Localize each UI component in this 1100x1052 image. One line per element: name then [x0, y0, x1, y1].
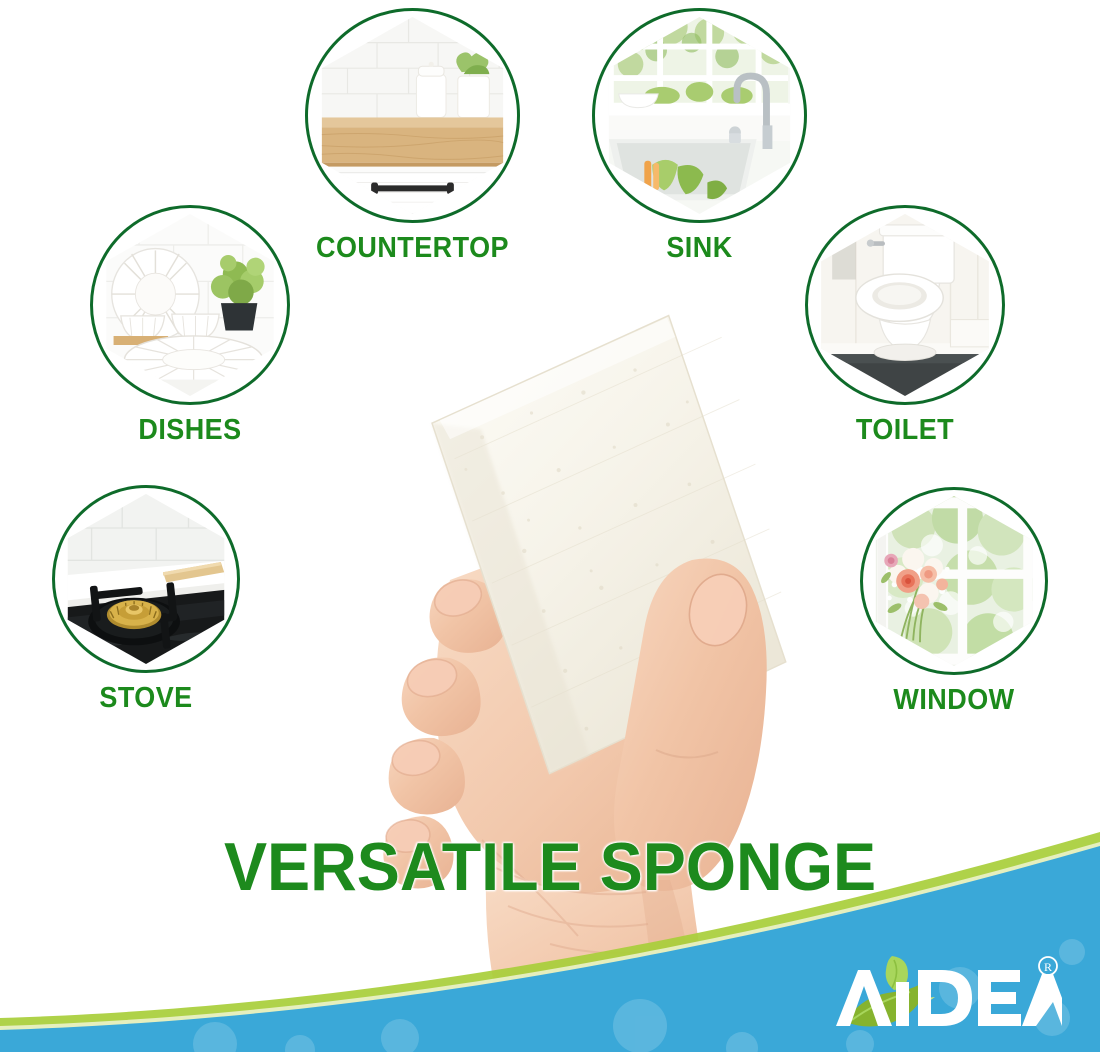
trademark-icon: R: [1039, 957, 1057, 975]
badge-label-toilet: TOILET: [812, 414, 998, 447]
badge-label-countertop: COUNTERTOP: [313, 232, 513, 265]
product-infographic: COUNTERTOP: [0, 0, 1100, 1052]
stove-scene-icon: [61, 494, 231, 664]
window-scene-icon: [869, 496, 1039, 666]
brand-logo[interactable]: R: [832, 952, 1062, 1032]
toilet-scene-icon: [814, 214, 996, 396]
countertop-scene-icon: [314, 17, 511, 214]
hero-hand-with-sponge: [300, 280, 820, 1020]
dishes-scene-icon: [99, 214, 281, 396]
badge-label-sink: SINK: [600, 232, 800, 265]
badge-stove[interactable]: STOVE: [52, 485, 240, 715]
badge-ring-toilet: [805, 205, 1005, 405]
badge-ring-sink: [592, 8, 807, 223]
badge-dishes[interactable]: DISHES: [90, 205, 290, 447]
sink-scene-icon: [601, 17, 798, 214]
page-title: VERSATILE SPONGE: [28, 828, 1073, 906]
badge-ring-countertop: [305, 8, 520, 223]
badge-toilet[interactable]: TOILET: [805, 205, 1005, 447]
badge-countertop[interactable]: COUNTERTOP: [305, 8, 520, 265]
badge-label-window: WINDOW: [867, 684, 1042, 717]
badge-sink[interactable]: SINK: [592, 8, 807, 265]
badge-ring-window: [860, 487, 1048, 675]
badge-ring-dishes: [90, 205, 290, 405]
badge-window[interactable]: WINDOW: [860, 487, 1048, 717]
badge-ring-stove: [52, 485, 240, 673]
svg-text:R: R: [1044, 960, 1052, 974]
badge-label-stove: STOVE: [59, 682, 234, 715]
badge-label-dishes: DISHES: [97, 414, 283, 447]
